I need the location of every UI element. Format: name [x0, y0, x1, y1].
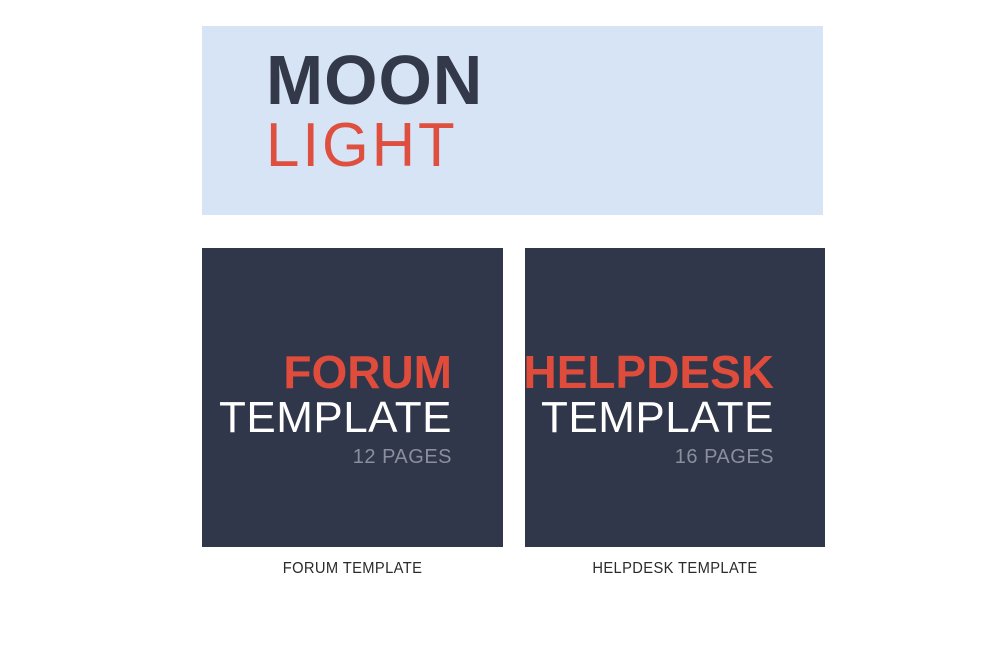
card-caption-helpdesk: HELPDESK TEMPLATE: [537, 560, 813, 578]
card-subtitle: TEMPLATE: [524, 395, 774, 442]
card-page-count: 12 PAGES: [219, 442, 452, 472]
brand-primary-word: MOON: [266, 48, 483, 112]
brand-banner: MOON LIGHT: [202, 26, 823, 215]
page-canvas: MOON LIGHT FORUM TEMPLATE 12 PAGES HELPD…: [0, 0, 1006, 655]
card-text-block: FORUM TEMPLATE 12 PAGES: [219, 349, 452, 472]
card-subtitle: TEMPLATE: [219, 395, 452, 442]
template-card-helpdesk[interactable]: HELPDESK TEMPLATE 16 PAGES: [525, 248, 825, 547]
brand-logo: MOON LIGHT: [266, 48, 488, 175]
card-text-block: HELPDESK TEMPLATE 16 PAGES: [524, 349, 774, 472]
card-title: HELPDESK: [524, 349, 774, 395]
card-title: FORUM: [219, 349, 452, 395]
brand-secondary-word: LIGHT: [266, 112, 488, 178]
card-page-count: 16 PAGES: [524, 442, 774, 472]
template-card-forum[interactable]: FORUM TEMPLATE 12 PAGES: [202, 248, 503, 547]
card-caption-forum: FORUM TEMPLATE: [214, 560, 491, 578]
